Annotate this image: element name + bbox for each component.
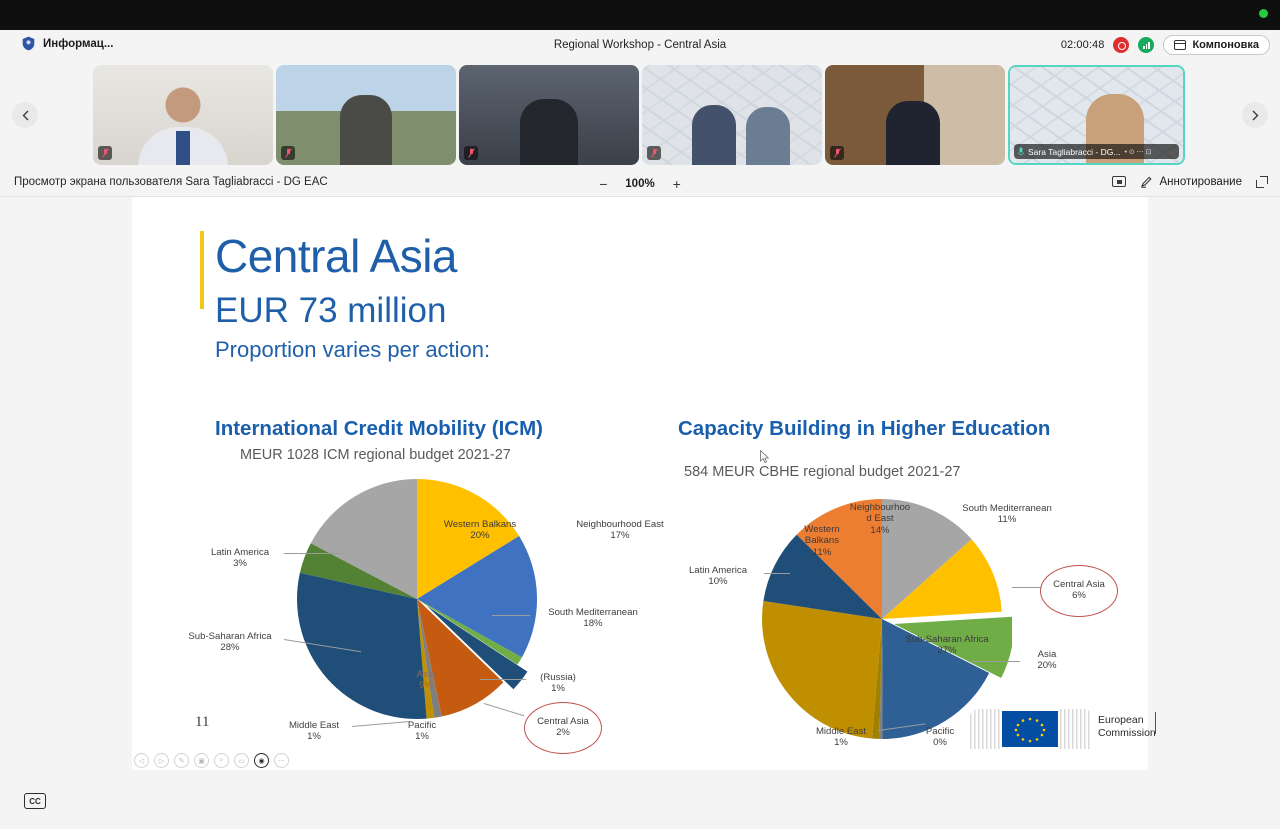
zoom-controls: − 100% + <box>0 170 1280 197</box>
slide-page-number: 11 <box>195 714 209 731</box>
mic-muted-icon <box>98 146 112 160</box>
pie-label-neighbourhood-east-cbhe: Neighbourhood East14% <box>847 502 913 536</box>
participant-name: Sara Tagliabracci - DG... <box>1028 147 1120 157</box>
network-quality-indicator[interactable] <box>1138 37 1154 53</box>
meeting-header: Regional Workshop - Central Asia Информа… <box>0 30 1280 60</box>
leader-line <box>764 573 790 574</box>
chevron-right-icon <box>1252 110 1259 121</box>
chart-title-cbhe: Capacity Building in Higher Education <box>678 417 1050 441</box>
leader-line <box>480 679 526 680</box>
chart-subtitle-icm: MEUR 1028 ICM regional budget 2021-27 <box>240 447 511 463</box>
meeting-toolbar: CC Включить микрофон ▼ Остановить видео … <box>0 781 1280 829</box>
leader-line <box>284 553 346 554</box>
closed-captions-button[interactable]: CC <box>24 793 46 809</box>
participant-thumbnail-strip: Sara Tagliabracci - DG... • ⊙ ⋯ ⊡ <box>0 60 1280 170</box>
share-bar-actions: Аннотирование <box>1112 175 1268 188</box>
pie-label-sub-saharan-africa-cbhe: Sub-Saharan Africa27% <box>892 634 1002 657</box>
zoom-meeting-window: Regional Workshop - Central Asia Информа… <box>0 0 1280 829</box>
chevron-left-icon <box>22 110 29 121</box>
layout-button[interactable]: Компоновка <box>1163 35 1270 55</box>
leader-line <box>492 615 530 616</box>
status-icons: • ⊙ ⋯ ⊡ <box>1124 148 1151 156</box>
slide-subtitle: EUR 73 million <box>215 293 446 328</box>
logo-text: EuropeanCommission <box>1098 714 1156 740</box>
mic-muted-icon <box>464 146 478 160</box>
mic-muted-icon <box>647 146 661 160</box>
pie-label-pacific-cbhe: Pacific0% <box>914 726 966 749</box>
accent-bar <box>200 231 204 309</box>
mic-muted-icon <box>830 146 844 160</box>
recording-indicator[interactable] <box>1113 37 1129 53</box>
leader-line <box>1012 587 1042 588</box>
mic-active-icon <box>1018 147 1024 156</box>
european-commission-logo: EuropeanCommission <box>970 703 1115 750</box>
text-caret <box>1155 712 1156 734</box>
pie-label-central-asia-icm: Central Asia2% <box>524 716 602 739</box>
pie-label-south-mediterranean-cbhe: South Mediterranean11% <box>942 503 1072 526</box>
pie-label-south-mediterranean-icm: South Mediterranean18% <box>530 607 656 630</box>
prev-slide-icon[interactable]: ◁ <box>134 753 149 768</box>
more-icon[interactable]: ⋯ <box>274 753 289 768</box>
shield-icon <box>22 36 35 51</box>
participant-thumbnail[interactable] <box>825 65 1005 165</box>
pie-label-middle-east-icm: Middle East1% <box>277 720 351 743</box>
eraser-icon[interactable]: ▣ <box>194 753 209 768</box>
logo-fan-left <box>970 709 1002 749</box>
zoom-icon[interactable]: ⌕ <box>214 753 229 768</box>
pie-label-asia-cbhe: Asia20% <box>1022 649 1072 672</box>
slide-mini-toolbar: ◁ ▷ ✎ ▣ ⌕ ▭ ◉ ⋯ <box>134 753 289 768</box>
zoom-level-value: 100% <box>625 178 654 190</box>
annotate-button[interactable]: Аннотирование <box>1140 175 1242 188</box>
thumbnails-next-button[interactable] <box>1242 102 1268 128</box>
leader-line <box>972 661 1020 662</box>
shared-screen-area: Central Asia EUR 73 million Proportion v… <box>0 197 1280 781</box>
mouse-cursor <box>760 450 769 463</box>
pen-icon <box>1140 175 1153 188</box>
chart-subtitle-cbhe: 584 MEUR CBHE regional budget 2021-27 <box>684 464 960 480</box>
os-top-strip <box>0 0 1280 30</box>
pie-label-neighbourhood-east-icm: Neighbourhood East17% <box>572 519 668 542</box>
meeting-header-right: 02:00:48 Компоновка <box>1061 35 1270 55</box>
participant-thumbnail[interactable] <box>459 65 639 165</box>
play-icon[interactable]: ▷ <box>154 753 169 768</box>
comment-icon[interactable]: ▭ <box>234 753 249 768</box>
logo-fan-right <box>1060 709 1092 749</box>
pie-label-pacific-icm: Pacific1% <box>394 720 450 743</box>
pie-label-middle-east-cbhe: Middle East1% <box>804 726 878 749</box>
slide-title: Central Asia <box>215 233 457 279</box>
screen-share-bar: Просмотр экрана пользователя Sara Taglia… <box>0 170 1280 197</box>
layout-button-label: Компоновка <box>1192 39 1259 51</box>
participant-thumbnail[interactable] <box>642 65 822 165</box>
pie-label-western-balkans-icm: Western Balkans20% <box>432 519 528 542</box>
annotate-label: Аннотирование <box>1159 176 1242 188</box>
presentation-slide: Central Asia EUR 73 million Proportion v… <box>132 197 1148 770</box>
pie-label-latin-america-icm: Latin America3% <box>198 547 282 570</box>
participant-thumbnail[interactable] <box>276 65 456 165</box>
mic-muted-icon <box>281 146 295 160</box>
pie-label-western-balkans-cbhe: WesternBalkans11% <box>790 524 854 558</box>
thumbnails-prev-button[interactable] <box>12 102 38 128</box>
pie-label-central-asia-cbhe: Central Asia6% <box>1040 579 1118 602</box>
active-speaker-namebar: Sara Tagliabracci - DG... • ⊙ ⋯ ⊡ <box>1014 144 1179 159</box>
slide-note: Proportion varies per action: <box>215 339 490 361</box>
pie-label-sub-saharan-africa-icm: Sub-Saharan Africa28% <box>178 631 282 654</box>
expand-icon[interactable] <box>1256 176 1268 188</box>
camera-icon[interactable]: ◉ <box>254 753 269 768</box>
security-info-button[interactable]: Информац... <box>22 36 113 51</box>
security-info-label: Информац... <box>43 38 113 50</box>
monitor-icon[interactable] <box>1112 176 1126 187</box>
participant-thumbnail[interactable] <box>93 65 273 165</box>
meeting-timer: 02:00:48 <box>1061 39 1105 51</box>
zoom-out-button[interactable]: − <box>596 176 610 192</box>
green-status-dot <box>1259 9 1268 18</box>
chart-title-icm: International Credit Mobility (ICM) <box>215 417 543 441</box>
layout-icon <box>1174 40 1186 50</box>
pen-tool-icon[interactable]: ✎ <box>174 753 189 768</box>
zoom-in-button[interactable]: + <box>670 176 684 192</box>
eu-stars-icon <box>1002 711 1058 747</box>
participant-thumbnail-active[interactable]: Sara Tagliabracci - DG... • ⊙ ⋯ ⊡ <box>1008 65 1185 165</box>
pie-label-russia-icm: (Russia)1% <box>526 672 590 695</box>
pie-label-latin-america-cbhe: Latin America10% <box>672 565 764 588</box>
pie-label-asia-icm: Asia9% <box>404 669 448 692</box>
cc-label: CC <box>29 797 41 806</box>
